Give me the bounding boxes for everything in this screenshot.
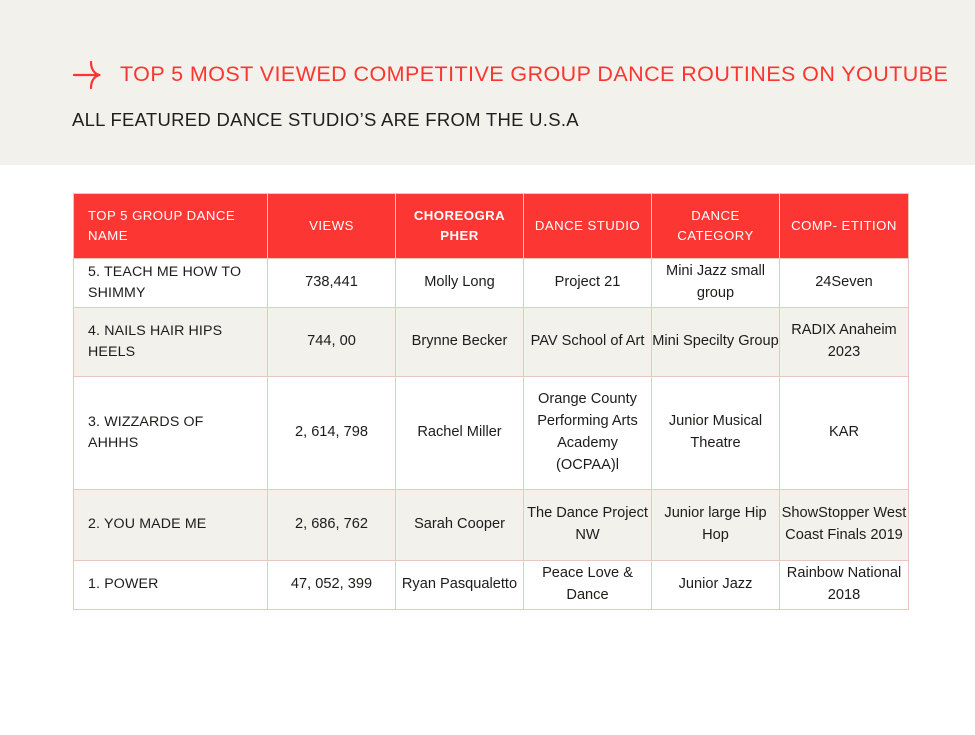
cell-dance-category: Mini Specilty Group xyxy=(652,308,780,377)
column-header-competition[interactable]: COMP- ETITION xyxy=(780,194,909,259)
header-banner: TOP 5 MOST VIEWED COMPETITIVE GROUP DANC… xyxy=(0,0,975,165)
table-header-row: TOP 5 GROUP DANCE NAME VIEWS CHOREOGRA P… xyxy=(74,194,909,259)
table-row: 3. WIZZARDS OF AHHHS 2, 614, 798 Rachel … xyxy=(74,377,909,490)
column-header-dance-studio[interactable]: DANCE STUDIO xyxy=(524,194,652,259)
table-row: 1. POWER 47, 052, 399 Ryan Pasqualetto P… xyxy=(74,561,909,610)
ranking-table: TOP 5 GROUP DANCE NAME VIEWS CHOREOGRA P… xyxy=(73,193,909,610)
cell-choreographer: Rachel Miller xyxy=(396,377,524,490)
table-body: 5. TEACH ME HOW TO SHIMMY 738,441 Molly … xyxy=(74,259,909,610)
ranking-table-wrapper: TOP 5 GROUP DANCE NAME VIEWS CHOREOGRA P… xyxy=(73,193,908,610)
title-row: TOP 5 MOST VIEWED COMPETITIVE GROUP DANC… xyxy=(72,60,948,90)
column-header-dance-category[interactable]: DANCE CATEGORY xyxy=(652,194,780,259)
cell-views: 47, 052, 399 xyxy=(268,561,396,610)
column-header-views[interactable]: VIEWS xyxy=(268,194,396,259)
cell-group-dance-name: 1. POWER xyxy=(74,561,268,610)
cell-competition: Rainbow National 2018 xyxy=(780,561,909,610)
cell-competition: KAR xyxy=(780,377,909,490)
cell-dance-studio: The Dance Project NW xyxy=(524,490,652,561)
cell-dance-studio: PAV School of Art xyxy=(524,308,652,377)
cell-group-dance-name: 5. TEACH ME HOW TO SHIMMY xyxy=(74,259,268,308)
cell-competition: 24Seven xyxy=(780,259,909,308)
table-row: 4. NAILS HAIR HIPS HEELS 744, 00 Brynne … xyxy=(74,308,909,377)
cell-dance-category: Junior Musical Theatre xyxy=(652,377,780,490)
column-header-group-dance-name[interactable]: TOP 5 GROUP DANCE NAME xyxy=(74,194,268,259)
cell-views: 2, 686, 762 xyxy=(268,490,396,561)
cell-dance-studio: Project 21 xyxy=(524,259,652,308)
table-row: 2. YOU MADE ME 2, 686, 762 Sarah Cooper … xyxy=(74,490,909,561)
cell-choreographer: Sarah Cooper xyxy=(396,490,524,561)
column-header-choreographer[interactable]: CHOREOGRA PHER xyxy=(396,194,524,259)
cell-group-dance-name: 2. YOU MADE ME xyxy=(74,490,268,561)
curved-arrow-right-icon xyxy=(72,60,106,90)
table-header: TOP 5 GROUP DANCE NAME VIEWS CHOREOGRA P… xyxy=(74,194,909,259)
cell-views: 744, 00 xyxy=(268,308,396,377)
cell-views: 2, 614, 798 xyxy=(268,377,396,490)
cell-dance-category: Mini Jazz small group xyxy=(652,259,780,308)
page-title: TOP 5 MOST VIEWED COMPETITIVE GROUP DANC… xyxy=(120,64,948,86)
cell-competition: ShowStopper West Coast Finals 2019 xyxy=(780,490,909,561)
cell-choreographer: Brynne Becker xyxy=(396,308,524,377)
cell-dance-studio: Orange County Performing Arts Academy (O… xyxy=(524,377,652,490)
cell-group-dance-name: 3. WIZZARDS OF AHHHS xyxy=(74,377,268,490)
cell-dance-studio: Peace Love & Dance xyxy=(524,561,652,610)
cell-dance-category: Junior Jazz xyxy=(652,561,780,610)
page-subtitle: ALL FEATURED DANCE STUDIO’S ARE FROM THE… xyxy=(72,109,579,131)
cell-group-dance-name: 4. NAILS HAIR HIPS HEELS xyxy=(74,308,268,377)
cell-views: 738,441 xyxy=(268,259,396,308)
cell-dance-category: Junior large Hip Hop xyxy=(652,490,780,561)
cell-competition: RADIX Anaheim 2023 xyxy=(780,308,909,377)
table-row: 5. TEACH ME HOW TO SHIMMY 738,441 Molly … xyxy=(74,259,909,308)
cell-choreographer: Molly Long xyxy=(396,259,524,308)
cell-choreographer: Ryan Pasqualetto xyxy=(396,561,524,610)
